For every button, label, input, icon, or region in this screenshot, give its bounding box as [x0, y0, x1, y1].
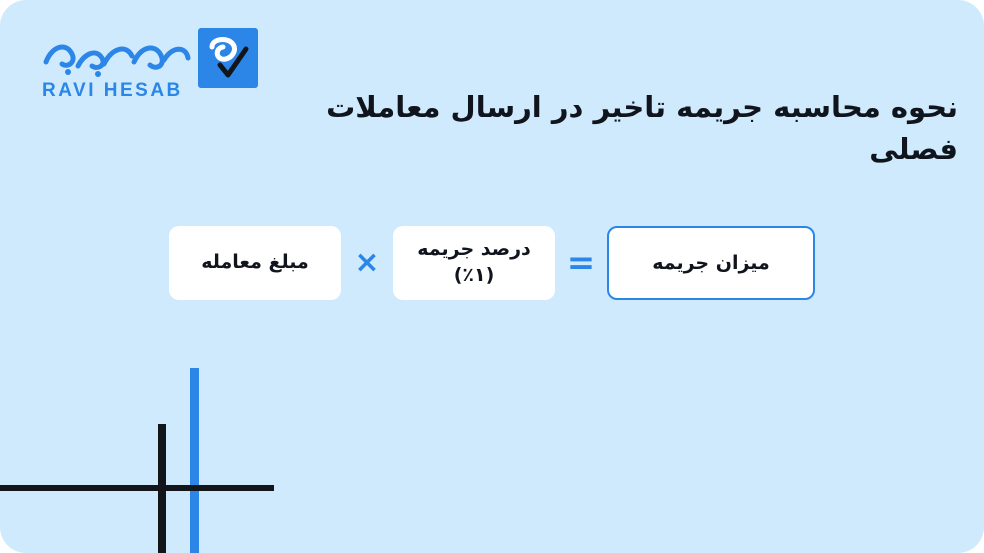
logo-persian-script: [38, 32, 194, 78]
decorative-lines: [0, 368, 300, 553]
formula-row: میزان جریمه = درصد جریمه (٪۱) × مبلغ معا…: [0, 218, 984, 308]
penalty-rate-label: درصد جریمه: [417, 238, 531, 260]
equals-operator: =: [555, 246, 607, 280]
formula-term-transaction-amount: مبلغ معامله: [169, 226, 341, 300]
decorative-line-horizontal: [0, 485, 274, 491]
page-title: نحوه محاسبه جریمه تاخیر در ارسال معاملات…: [228, 86, 958, 170]
decorative-bar-blue: [190, 368, 199, 553]
logo-wordmark: RAVI HESAB: [42, 80, 183, 102]
penalty-rate-value: (٪۱): [454, 264, 495, 286]
formula-result-box: میزان جریمه: [607, 226, 815, 300]
brand-logo: RAVI HESAB: [26, 26, 256, 104]
formula-term-penalty-rate: درصد جریمه (٪۱): [393, 226, 555, 300]
logo-mark: [198, 28, 258, 88]
logo-mark-glyph: [206, 35, 250, 81]
infographic-canvas: RAVI HESAB نحوه محاسبه جریمه تاخیر در ار…: [0, 0, 984, 553]
multiply-operator: ×: [341, 248, 393, 278]
